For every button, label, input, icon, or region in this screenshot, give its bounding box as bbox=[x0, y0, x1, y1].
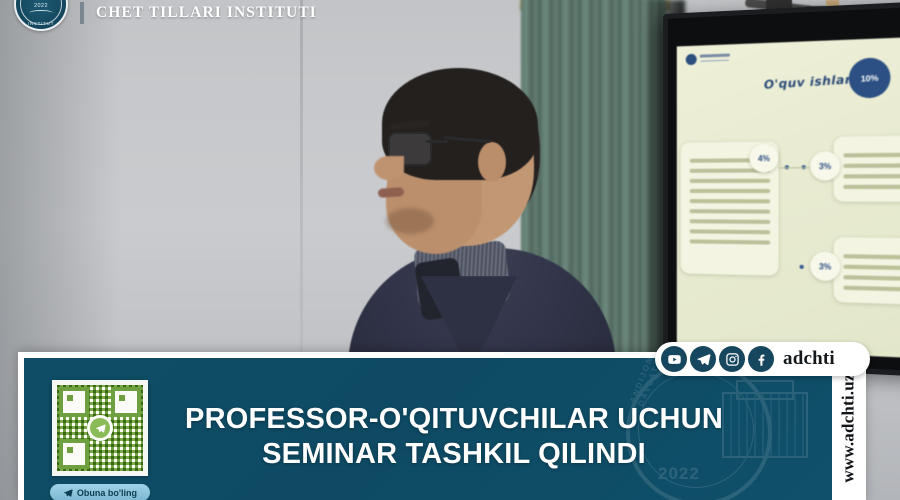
headline-line-2: SEMINAR TASHKIL QILINDI bbox=[174, 437, 734, 472]
speaker-ear bbox=[478, 142, 506, 182]
slide-stat-bubble: 3% bbox=[810, 251, 840, 281]
telegram-icon[interactable] bbox=[690, 346, 716, 372]
subscribe-button[interactable]: Obuna bo'ling bbox=[50, 484, 150, 500]
telegram-icon bbox=[63, 488, 73, 498]
slide-dot bbox=[800, 265, 804, 269]
slide-main-badge: 10% bbox=[848, 56, 891, 99]
subscribe-button-label: Obuna bo'ling bbox=[77, 488, 137, 498]
logo-year: 2022 bbox=[16, 3, 66, 9]
slide-card-lines bbox=[690, 158, 770, 251]
speaker-nose bbox=[374, 156, 404, 180]
banner-body: ★★★ ANDIJON DAVLAT 2022 Ob bbox=[24, 358, 832, 500]
slide-stat-bubble: 3% bbox=[810, 151, 840, 180]
logo-wave bbox=[29, 10, 53, 16]
qr-code[interactable] bbox=[52, 380, 148, 476]
website-url: www.adchti.uz bbox=[839, 373, 859, 482]
slide-card-lines bbox=[843, 152, 900, 195]
slide-stat-bubble: 4% bbox=[749, 144, 778, 173]
instagram-icon[interactable] bbox=[719, 346, 745, 372]
slide-logo-icon bbox=[686, 54, 697, 65]
qr-finder-top-left bbox=[59, 387, 89, 417]
speaker-mouth bbox=[378, 187, 405, 198]
slide-card-lines bbox=[843, 254, 900, 298]
headline-line-1: PROFESSOR-O'QITUVCHILAR UCHUN bbox=[174, 402, 734, 437]
header-divider bbox=[80, 2, 84, 24]
slide-title: O'quv ishlari bbox=[764, 72, 857, 92]
youtube-icon[interactable] bbox=[661, 346, 687, 372]
facebook-icon[interactable] bbox=[748, 346, 774, 372]
watermark-building-top bbox=[736, 380, 794, 400]
headline: PROFESSOR-O'QITUVCHILAR UCHUN SEMINAR TA… bbox=[174, 402, 734, 473]
slide-card bbox=[834, 237, 900, 305]
qr-finder-top-right bbox=[111, 387, 141, 417]
news-banner: ★★★ ANDIJON DAVLAT 2022 Ob bbox=[18, 352, 866, 500]
telegram-icon bbox=[90, 418, 110, 438]
screenshot-root: O'quv ishlari 10% 4% bbox=[0, 0, 900, 500]
wall-corner bbox=[300, 0, 303, 360]
slide-connector bbox=[778, 167, 810, 168]
slide-logo-text bbox=[700, 54, 730, 58]
slide-card bbox=[834, 135, 900, 202]
speaker-portrait bbox=[330, 60, 630, 360]
social-links-bar: adchti bbox=[655, 342, 870, 376]
watermark-building bbox=[722, 392, 808, 458]
qr-code-pattern bbox=[57, 385, 143, 471]
glasses-bridge bbox=[426, 140, 448, 143]
slide-content: O'quv ishlari 10% 4% bbox=[677, 37, 900, 359]
logo-arc-text: INSTITUT bbox=[16, 21, 66, 26]
qr-finder-bottom-left bbox=[59, 439, 89, 469]
top-header-bar: 2022 INSTITUT CHET TILLARI INSTITUTI bbox=[0, 0, 900, 26]
speaker-chin-shadow bbox=[386, 208, 434, 234]
presentation-screen: O'quv ishlari 10% 4% bbox=[663, 1, 900, 378]
brand-name: adchti bbox=[783, 348, 835, 370]
institute-name: CHET TILLARI INSTITUTI bbox=[96, 4, 317, 22]
